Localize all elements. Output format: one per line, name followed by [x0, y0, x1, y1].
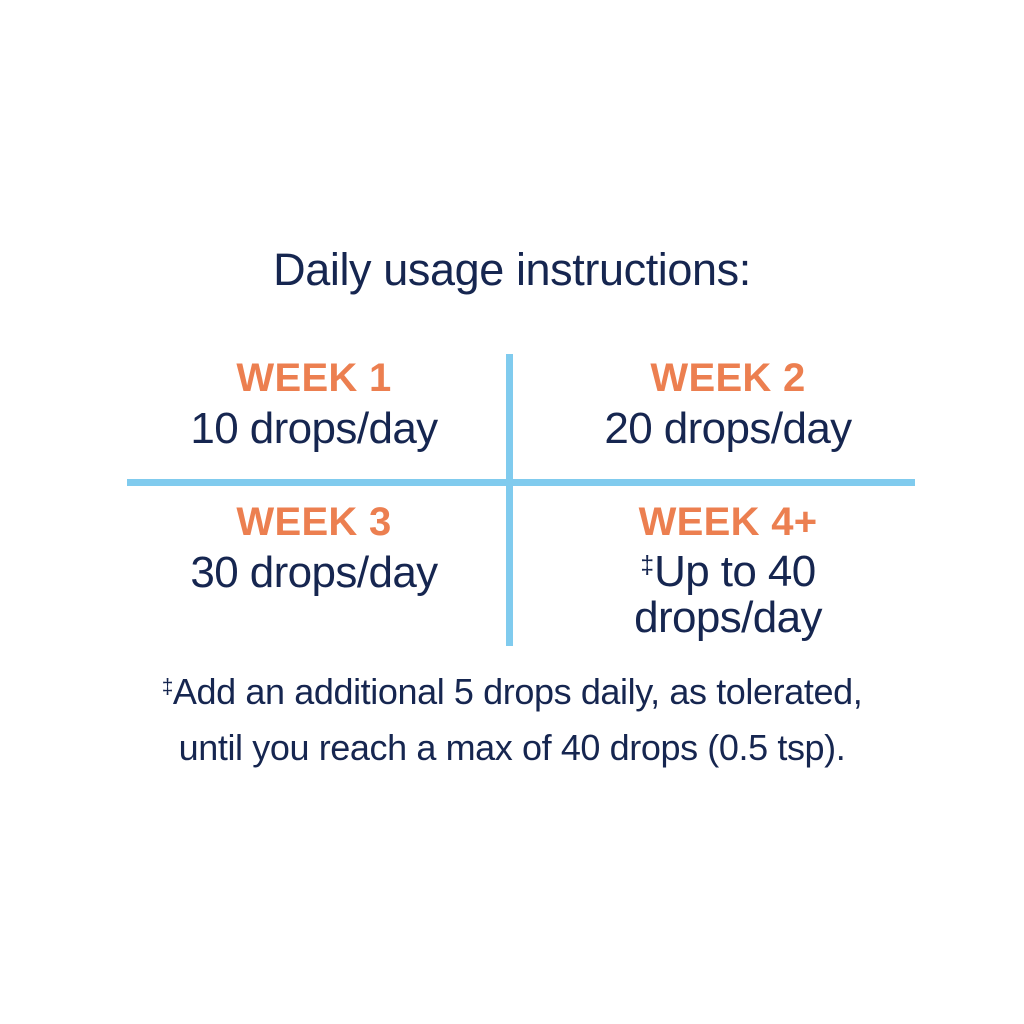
week2-label: WEEK 2 — [541, 356, 915, 401]
week4-label: WEEK 4+ — [541, 500, 915, 545]
schedule-cell-week4: WEEK 4+ ‡Up to 40drops/day — [541, 500, 915, 641]
week4-dose: ‡Up to 40drops/day — [541, 549, 915, 641]
schedule-cell-week2: WEEK 2 20 drops/day — [541, 356, 915, 452]
schedule-cell-week1: WEEK 1 10 drops/day — [127, 356, 501, 452]
footnote-line-1: ‡Add an additional 5 drops daily, as tol… — [0, 664, 1024, 720]
week1-label: WEEK 1 — [127, 356, 501, 401]
footnote: ‡Add an additional 5 drops daily, as tol… — [0, 664, 1024, 776]
footnote-text-1: Add an additional 5 drops daily, as tole… — [173, 671, 862, 712]
week3-label: WEEK 3 — [127, 500, 501, 545]
week4-footnote-marker: ‡ — [640, 552, 654, 579]
weekly-schedule-grid: WEEK 1 10 drops/day WEEK 2 20 drops/day … — [127, 352, 915, 648]
footnote-marker: ‡ — [162, 676, 173, 699]
week4-dose-line1: Up to 40 — [654, 547, 816, 596]
week2-dose: 20 drops/day — [541, 405, 915, 453]
footnote-text-2: until you reach a max of 40 drops (0.5 t… — [0, 720, 1024, 776]
week3-dose: 30 drops/day — [127, 549, 501, 597]
week4-dose-line2: drops/day — [634, 593, 822, 642]
week1-dose: 10 drops/day — [127, 405, 501, 453]
instructions-card: Daily usage instructions: WEEK 1 10 drop… — [0, 0, 1024, 1024]
page-title: Daily usage instructions: — [0, 246, 1024, 293]
schedule-cell-week3: WEEK 3 30 drops/day — [127, 500, 501, 596]
